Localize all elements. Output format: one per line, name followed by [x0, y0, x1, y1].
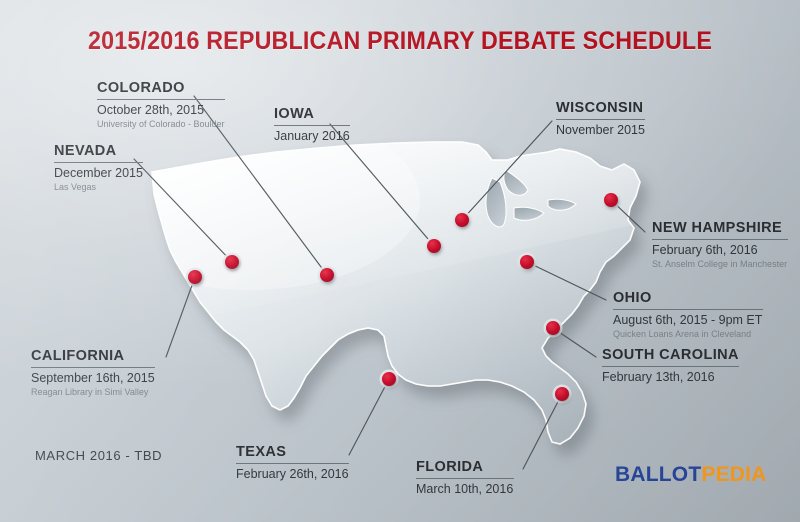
leader-line-california	[166, 277, 195, 357]
callout-rule	[416, 478, 514, 479]
callout-venue-colorado: University of Colorado - Boulder	[97, 119, 225, 130]
marker-new-hampshire[interactable]	[602, 191, 621, 210]
marker-colorado[interactable]	[318, 266, 337, 285]
callout-state-wisconsin: WISCONSIN	[556, 100, 645, 119]
callout-venue-new-hampshire: St. Anselm College in Manchester	[652, 259, 788, 270]
callout-wisconsin: WISCONSIN November 2015	[556, 100, 645, 138]
infographic-canvas: 2015/2016 REPUBLICAN PRIMARY DEBATE SCHE…	[0, 0, 800, 522]
callout-venue-ohio: Quicken Loans Arena in Cleveland	[613, 329, 763, 340]
marker-wisconsin[interactable]	[453, 211, 472, 230]
callout-rule	[602, 366, 739, 367]
marker-florida[interactable]	[553, 385, 572, 404]
callout-state-florida: FLORIDA	[416, 459, 514, 478]
callout-state-south-carolina: SOUTH CAROLINA	[602, 347, 739, 366]
callout-date-texas: February 26th, 2016	[236, 467, 349, 482]
callout-date-florida: March 10th, 2016	[416, 482, 514, 497]
callout-rule	[54, 162, 143, 163]
callout-rule	[652, 239, 788, 240]
callout-date-south-carolina: February 13th, 2016	[602, 370, 739, 385]
logo-text-ballot: BALLOT	[615, 463, 701, 486]
callout-date-wisconsin: November 2015	[556, 123, 645, 138]
callout-iowa: IOWA January 2016	[274, 106, 350, 144]
callout-state-new-hampshire: NEW HAMPSHIRE	[652, 220, 788, 239]
callout-rule	[556, 119, 645, 120]
marker-ohio[interactable]	[518, 253, 537, 272]
callout-state-iowa: IOWA	[274, 106, 350, 125]
callout-florida: FLORIDA March 10th, 2016	[416, 459, 514, 497]
callout-date-iowa: January 2016	[274, 129, 350, 144]
callout-ohio: OHIO August 6th, 2015 - 9pm ET Quicken L…	[613, 290, 763, 339]
ballotpedia-logo[interactable]: BALLOTPEDIA	[615, 463, 767, 487]
callout-colorado: COLORADO October 28th, 2015 University o…	[97, 80, 225, 129]
marker-south-carolina[interactable]	[544, 319, 563, 338]
callout-date-new-hampshire: February 6th, 2016	[652, 243, 788, 258]
callout-south-carolina: SOUTH CAROLINA February 13th, 2016	[602, 347, 739, 385]
callout-date-ohio: August 6th, 2015 - 9pm ET	[613, 313, 763, 328]
tbd-footnote: MARCH 2016 - TBD	[35, 448, 162, 463]
callout-date-california: September 16th, 2015	[31, 371, 155, 386]
marker-nevada[interactable]	[223, 253, 242, 272]
marker-texas[interactable]	[380, 370, 399, 389]
callout-texas: TEXAS February 26th, 2016	[236, 444, 349, 482]
callout-state-ohio: OHIO	[613, 290, 763, 309]
callout-state-nevada: NEVADA	[54, 143, 143, 162]
marker-iowa[interactable]	[425, 237, 444, 256]
logo-text-pedia: PEDIA	[701, 463, 766, 486]
callout-rule	[274, 125, 350, 126]
marker-california[interactable]	[186, 268, 205, 287]
callout-new-hampshire: NEW HAMPSHIRE February 6th, 2016 St. Ans…	[652, 220, 788, 269]
callout-date-colorado: October 28th, 2015	[97, 103, 225, 118]
callout-rule	[97, 99, 225, 100]
callout-rule	[613, 309, 763, 310]
callout-nevada: NEVADA December 2015 Las Vegas	[54, 143, 143, 192]
callout-rule	[236, 463, 349, 464]
callout-venue-california: Reagan Library in Simi Valley	[31, 387, 155, 398]
callout-state-california: CALIFORNIA	[31, 348, 155, 367]
callout-state-texas: TEXAS	[236, 444, 349, 463]
callout-venue-nevada: Las Vegas	[54, 182, 143, 193]
callout-date-nevada: December 2015	[54, 166, 143, 181]
leader-line-texas	[349, 379, 389, 455]
callout-california: CALIFORNIA September 16th, 2015 Reagan L…	[31, 348, 155, 397]
callout-rule	[31, 367, 155, 368]
callout-state-colorado: COLORADO	[97, 80, 225, 99]
